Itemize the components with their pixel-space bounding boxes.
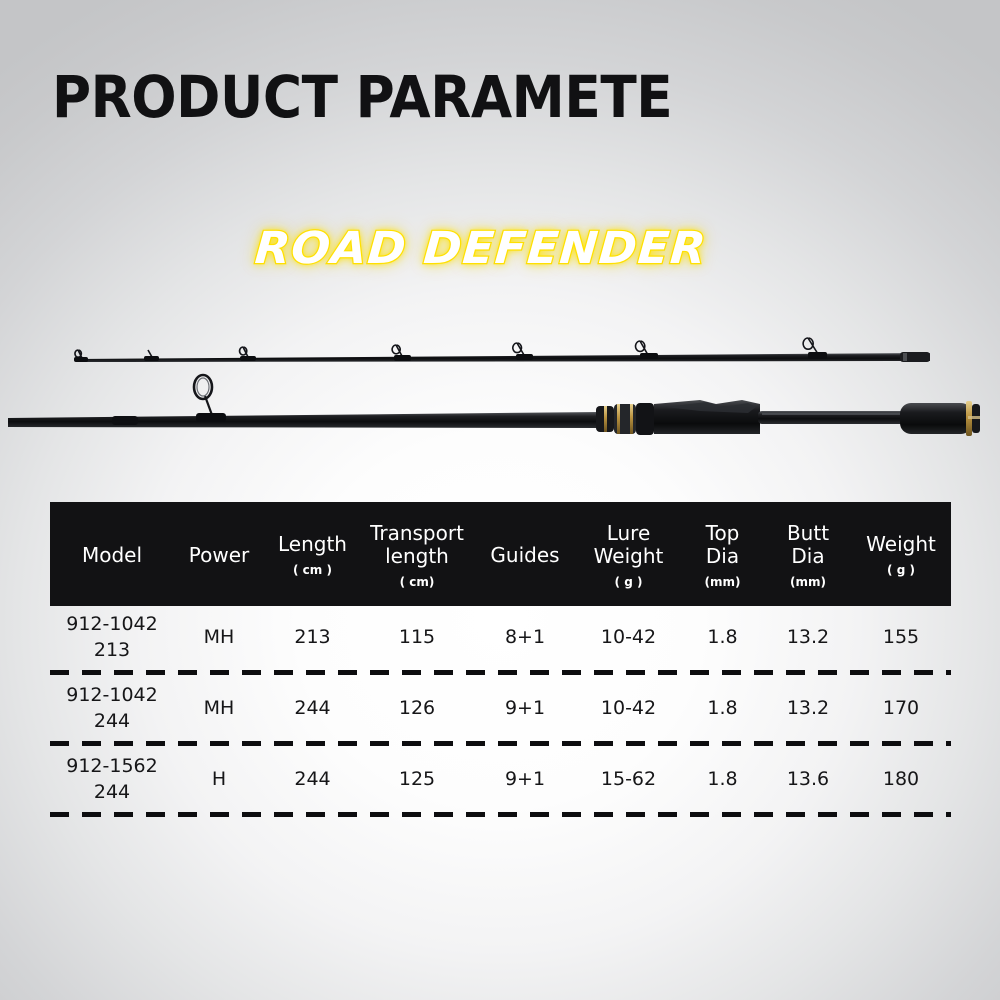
mid-blank — [758, 411, 906, 424]
rear-grip — [900, 403, 972, 434]
cell-guides: 8+1 — [473, 625, 577, 649]
column-header-power: Power — [174, 502, 264, 606]
column-header-butt-dia: Butt Dia (mm) — [765, 502, 851, 606]
row-separator — [50, 668, 951, 677]
cell-length: 213 — [264, 625, 361, 649]
cell-guides: 9+1 — [473, 767, 577, 791]
cell-length: 244 — [264, 696, 361, 720]
cell-lure-weight: 15-62 — [577, 767, 680, 791]
table-row: 912-1562 244 H 244 125 9+1 15-62 1.8 13.… — [50, 748, 951, 810]
page-title: PRODUCT PARAMETE — [52, 64, 672, 130]
column-header-transport-length: Transport length ( cm) — [361, 502, 473, 606]
cell-model: 912-1042 244 — [50, 682, 174, 734]
cell-butt-dia: 13.2 — [765, 696, 851, 720]
cell-weight: 170 — [851, 696, 951, 720]
column-header-lure-weight: Lure Weight ( g ) — [577, 502, 680, 606]
row-separator — [50, 810, 951, 819]
stripper-guide — [194, 375, 226, 422]
cell-weight: 180 — [851, 767, 951, 791]
cell-top-dia: 1.8 — [680, 696, 765, 720]
cell-guides: 9+1 — [473, 696, 577, 720]
column-header-weight: Weight ( g ) — [851, 502, 951, 606]
cell-transport-length: 125 — [361, 767, 473, 791]
column-header-length: Length ( cm ) — [264, 502, 361, 606]
brand-logo-text: ROAD DEFENDER — [253, 222, 777, 276]
cell-power: MH — [174, 696, 264, 720]
product-image-fishing-rod — [0, 300, 1000, 485]
cell-transport-length: 115 — [361, 625, 473, 649]
cell-top-dia: 1.8 — [680, 625, 765, 649]
cell-power: H — [174, 767, 264, 791]
cell-butt-dia: 13.6 — [765, 767, 851, 791]
column-header-guides: Guides — [473, 502, 577, 606]
ferrule-wrap — [112, 416, 138, 425]
cell-butt-dia: 13.2 — [765, 625, 851, 649]
row-separator — [50, 739, 951, 748]
brand-logo: ROAD DEFENDER — [255, 222, 755, 278]
reel-seat — [596, 403, 654, 435]
cell-power: MH — [174, 625, 264, 649]
cell-weight: 155 — [851, 625, 951, 649]
table-row: 912-1042 213 MH 213 115 8+1 10-42 1.8 13… — [50, 606, 951, 668]
cell-lure-weight: 10-42 — [577, 696, 680, 720]
column-header-model: Model — [50, 502, 174, 606]
cell-model: 912-1042 213 — [50, 611, 174, 663]
table-row: 912-1042 244 MH 244 126 9+1 10-42 1.8 13… — [50, 677, 951, 739]
cell-transport-length: 126 — [361, 696, 473, 720]
column-header-top-dia: Top Dia (mm) — [680, 502, 765, 606]
cell-length: 244 — [264, 767, 361, 791]
fishing-rod-illustration — [0, 300, 1000, 485]
cell-lure-weight: 10-42 — [577, 625, 680, 649]
specification-table: Model Power Length ( cm ) Transport leng… — [50, 502, 951, 819]
table-header-row: Model Power Length ( cm ) Transport leng… — [50, 502, 951, 606]
cell-top-dia: 1.8 — [680, 767, 765, 791]
rod-tip-section — [74, 338, 930, 362]
rod-butt-section — [8, 375, 980, 436]
cell-model: 912-1562 244 — [50, 753, 174, 805]
product-parameter-page: PRODUCT PARAMETE ROAD DEFENDER — [0, 0, 1000, 1000]
